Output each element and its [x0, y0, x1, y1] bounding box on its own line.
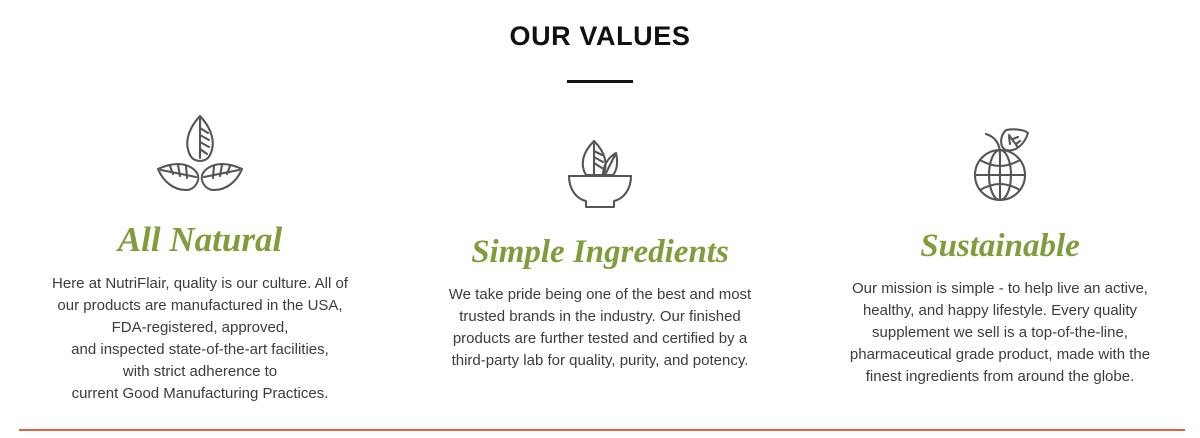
three-leaves-icon [150, 111, 250, 196]
icon-container [10, 104, 390, 196]
value-heading-simple-ingredients: Simple Ingredients [418, 214, 782, 269]
value-text-sustainable: Our mission is simple - to help live an … [820, 263, 1180, 388]
value-heading-all-natural: All Natural [10, 196, 390, 257]
page-title: OUR VALUES [0, 0, 1200, 52]
value-text-all-natural: Here at NutriFlair, quality is our cultu… [10, 257, 390, 405]
globe-with-leaf-icon [962, 125, 1038, 208]
section-header: OUR VALUES [0, 0, 1200, 83]
value-column-all-natural: All Natural Here at NutriFlair, quality … [0, 104, 400, 405]
value-column-simple-ingredients: Simple Ingredients We take pride being o… [400, 104, 800, 372]
values-columns: All Natural Here at NutriFlair, quality … [0, 104, 1200, 405]
title-divider [567, 80, 633, 83]
value-text-simple-ingredients: We take pride being one of the best and … [418, 269, 782, 372]
value-heading-sustainable: Sustainable [820, 208, 1180, 263]
icon-container [418, 104, 782, 214]
value-column-sustainable: Sustainable Our mission is simple - to h… [800, 104, 1200, 388]
icon-container [820, 104, 1180, 208]
mortar-bowl-with-leaves-icon [562, 137, 638, 214]
section-bottom-divider [19, 429, 1185, 431]
